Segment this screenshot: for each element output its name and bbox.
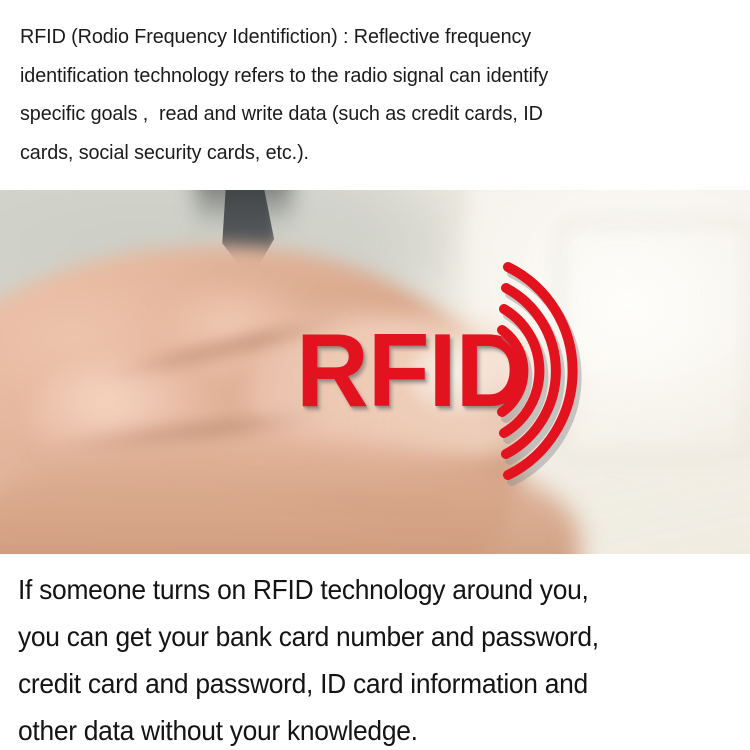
top-paragraph-line-1: RFID (Rodio Frequency Identifiction) : R… [20, 18, 701, 57]
top-paragraph-line-3: specific goals , read and write data (su… [20, 95, 701, 134]
bottom-paragraph-line-2: you can get your bank card number and pa… [18, 613, 702, 660]
rfid-signal-waves-icon [508, 252, 678, 490]
product-description-page: RFID (Rodio Frequency Identifiction) : R… [0, 0, 750, 750]
top-description-block: RFID (Rodio Frequency Identifiction) : R… [0, 0, 750, 190]
bottom-paragraph-line-4: other data without your knowledge. [18, 707, 702, 750]
top-paragraph-line-4: cards, social security cards, etc.). [20, 134, 701, 173]
rfid-logo: RFID [296, 252, 676, 490]
top-paragraph-line-2: identification technology refers to the … [20, 57, 701, 96]
bottom-paragraph-line-3: credit card and password, ID card inform… [18, 660, 702, 707]
rfid-hand-photo: RFID [0, 190, 750, 554]
bottom-warning-block: If someone turns on RFID technology arou… [0, 554, 750, 750]
bottom-paragraph-line-1: If someone turns on RFID technology arou… [18, 566, 702, 613]
rfid-wordmark: RFID [296, 328, 527, 414]
